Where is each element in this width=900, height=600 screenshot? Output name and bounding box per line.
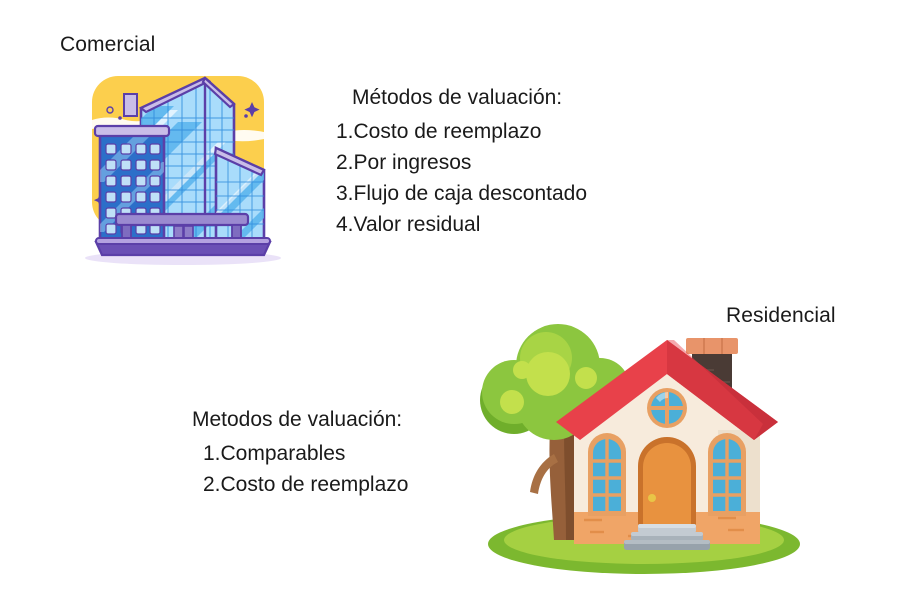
list-item-number: 3. (336, 179, 354, 210)
list-item-label: Flujo de caja descontado (354, 179, 588, 210)
list-item-label: Valor residual (354, 210, 481, 241)
left-tower-roof-cap (95, 126, 169, 136)
list-item: 3. Flujo de caja descontado (336, 179, 587, 210)
residential-methods-list: 1. Comparables 2. Costo de reemplazo (192, 439, 408, 501)
list-item-label: Por ingresos (354, 148, 472, 179)
list-item: 1. Comparables (192, 439, 408, 470)
slide-canvas: Comercial (0, 0, 900, 600)
commercial-methods-block: Métodos de valuación: 1. Costo de reempl… (336, 86, 587, 240)
list-item-number: 2. (203, 470, 221, 501)
list-item: 2. Costo de reemplazo (192, 470, 408, 501)
window-left (588, 433, 626, 516)
window-right (708, 433, 746, 516)
commercial-methods-heading: Métodos de valuación: (336, 86, 587, 110)
list-item-label: Costo de reemplazo (221, 470, 409, 501)
commercial-section-title: Comercial (60, 33, 155, 57)
sparkle-dot-1 (118, 116, 122, 120)
building-base-platform (85, 238, 281, 265)
residential-methods-heading: Metodos de valuación: (192, 408, 408, 432)
list-item-label: Comparables (221, 439, 346, 470)
list-item-number: 1. (203, 439, 221, 470)
list-item: 1. Costo de reemplazo (336, 117, 587, 148)
list-item: 4. Valor residual (336, 210, 587, 241)
commercial-building-illustration (78, 72, 294, 270)
list-item-label: Costo de reemplazo (354, 117, 542, 148)
list-item: 2. Por ingresos (336, 148, 587, 179)
list-item-number: 1. (336, 117, 354, 148)
chimney-cap (686, 338, 738, 354)
glass-annex-right (208, 148, 284, 248)
house-illustration (478, 326, 808, 576)
attic-round-window (647, 388, 687, 428)
commercial-methods-list: 1. Costo de reemplazo 2. Por ingresos 3.… (336, 117, 587, 240)
door-knob (648, 494, 656, 502)
list-item-number: 4. (336, 210, 354, 241)
roof-vent (124, 94, 137, 116)
residential-methods-block: Metodos de valuación: 1. Comparables 2. … (192, 408, 408, 501)
sparkle-dot-2 (244, 114, 248, 118)
residential-section-title: Residencial (726, 304, 836, 328)
front-door (638, 437, 696, 526)
list-item-number: 2. (336, 148, 354, 179)
